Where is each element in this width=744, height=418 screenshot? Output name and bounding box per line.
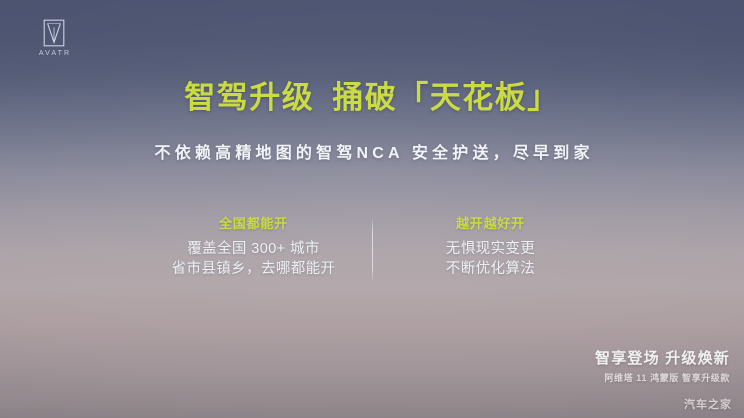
feature-lines: 无惧现实变更 不断优化算法 bbox=[373, 239, 609, 279]
feature-line: 不断优化算法 bbox=[373, 259, 609, 279]
avatr-logo-icon bbox=[43, 19, 65, 47]
feature-column-nationwide: 全国都能开 覆盖全国 300+ 城市 省市县镇乡，去哪都能开 bbox=[136, 216, 372, 279]
product-lockup-title: 智享登场 升级焕新 bbox=[595, 349, 730, 369]
product-lockup: 智享登场 升级焕新 阿维塔 11 鸿蒙版 智享升级款 bbox=[595, 349, 730, 384]
feature-line: 覆盖全国 300+ 城市 bbox=[136, 239, 372, 259]
feature-line: 省市县镇乡，去哪都能开 bbox=[136, 259, 372, 279]
slide-headline: 智驾升级捅破「天花板」 bbox=[0, 79, 744, 118]
avatr-brand-logo: AVATR bbox=[31, 19, 77, 57]
feature-column-improving: 越开越好开 无惧现实变更 不断优化算法 bbox=[373, 216, 609, 279]
feature-title: 全国都能开 bbox=[136, 216, 372, 232]
product-lockup-subtitle: 阿维塔 11 鸿蒙版 智享升级款 bbox=[595, 373, 730, 385]
headline-part-1: 智驾升级 bbox=[184, 80, 314, 115]
feature-line: 无惧现实变更 bbox=[373, 239, 609, 259]
feature-columns: 全国都能开 覆盖全国 300+ 城市 省市县镇乡，去哪都能开 越开越好开 无惧现… bbox=[0, 216, 744, 282]
headline-part-2: 捅破「天花板」 bbox=[332, 80, 560, 115]
presentation-slide: AVATR 智驾升级捅破「天花板」 不依赖高精地图的智驾NCA 安全护送，尽早到… bbox=[0, 0, 744, 418]
watermark: 汽车之家 bbox=[684, 396, 732, 412]
feature-lines: 覆盖全国 300+ 城市 省市县镇乡，去哪都能开 bbox=[136, 239, 372, 279]
slide-subheadline: 不依赖高精地图的智驾NCA 安全护送，尽早到家 bbox=[0, 139, 744, 163]
feature-title: 越开越好开 bbox=[373, 216, 609, 232]
avatr-wordmark: AVATR bbox=[31, 50, 77, 57]
